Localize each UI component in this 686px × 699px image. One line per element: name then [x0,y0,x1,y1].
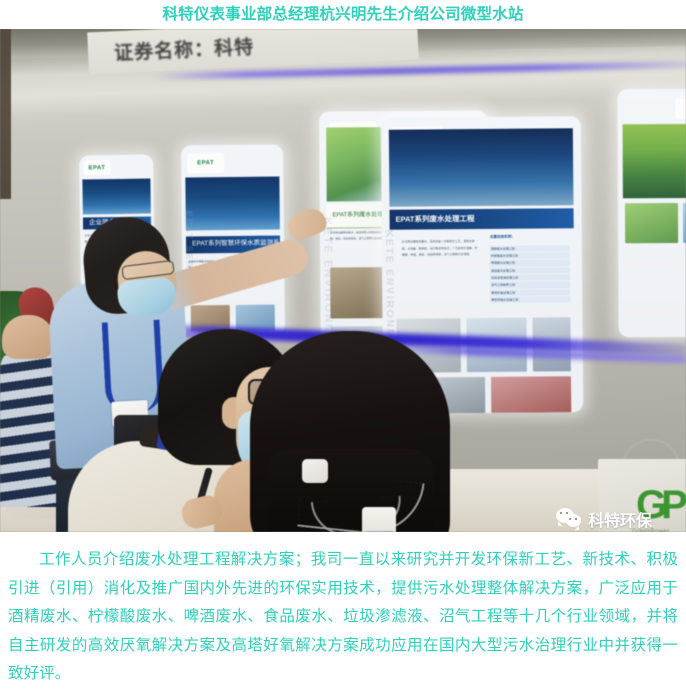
poster-lightbox-5: EPAT [617,89,686,338]
person-striped-shirt-head [2,315,54,359]
wechat-icon [556,508,582,530]
panel-logo-5: EPAT [675,99,686,119]
wechat-watermark: 科特环保 [556,507,652,531]
booth-left-column [0,29,11,199]
panel-subheading-4: 主要应用实例： [490,235,515,240]
panel-applications-4: 酒精废水处理工程 柠檬酸废水处理工程 啤酒废水处理工程 食品废水处理工程 垃圾渗… [490,245,571,304]
article-title: 科特仪表事业部总经理杭兴明先生介绍公司微型水站 [0,0,686,29]
panel-logo-1: EPAT [84,160,111,175]
panel-title-4: EPAT系列废水处理工程 [390,208,574,230]
poster-lightbox-2: EPAT EPAT系列智慧环保水质监测系统 系统采用微型水站技术，实现对地表水、… [181,144,285,335]
photo-scene: 证券名称：科特 KETE ENVIRONMENTAL EPAT SERIES E… [0,29,686,532]
article-photo: 证券名称：科特 KETE ENVIRONMENTAL EPAT SERIES E… [0,29,686,532]
paper-cup [362,507,396,532]
wechat-account-name: 科特环保 [588,507,652,531]
paper-cup-band [364,531,394,532]
panel-body-4: 针对高浓度有机废水，采用厌氧＋好氧组合工艺，具有负荷高、占地省、能耗低、运行稳定… [402,238,479,310]
article-body: 工作人员介绍废水处理工程解决方案；我司一直以来研究并开发环保新工艺、新技术、积极… [0,532,686,699]
panel-logo-2: EPAT [187,153,224,174]
booth-banner-text: 证券名称：科特 [114,32,255,65]
